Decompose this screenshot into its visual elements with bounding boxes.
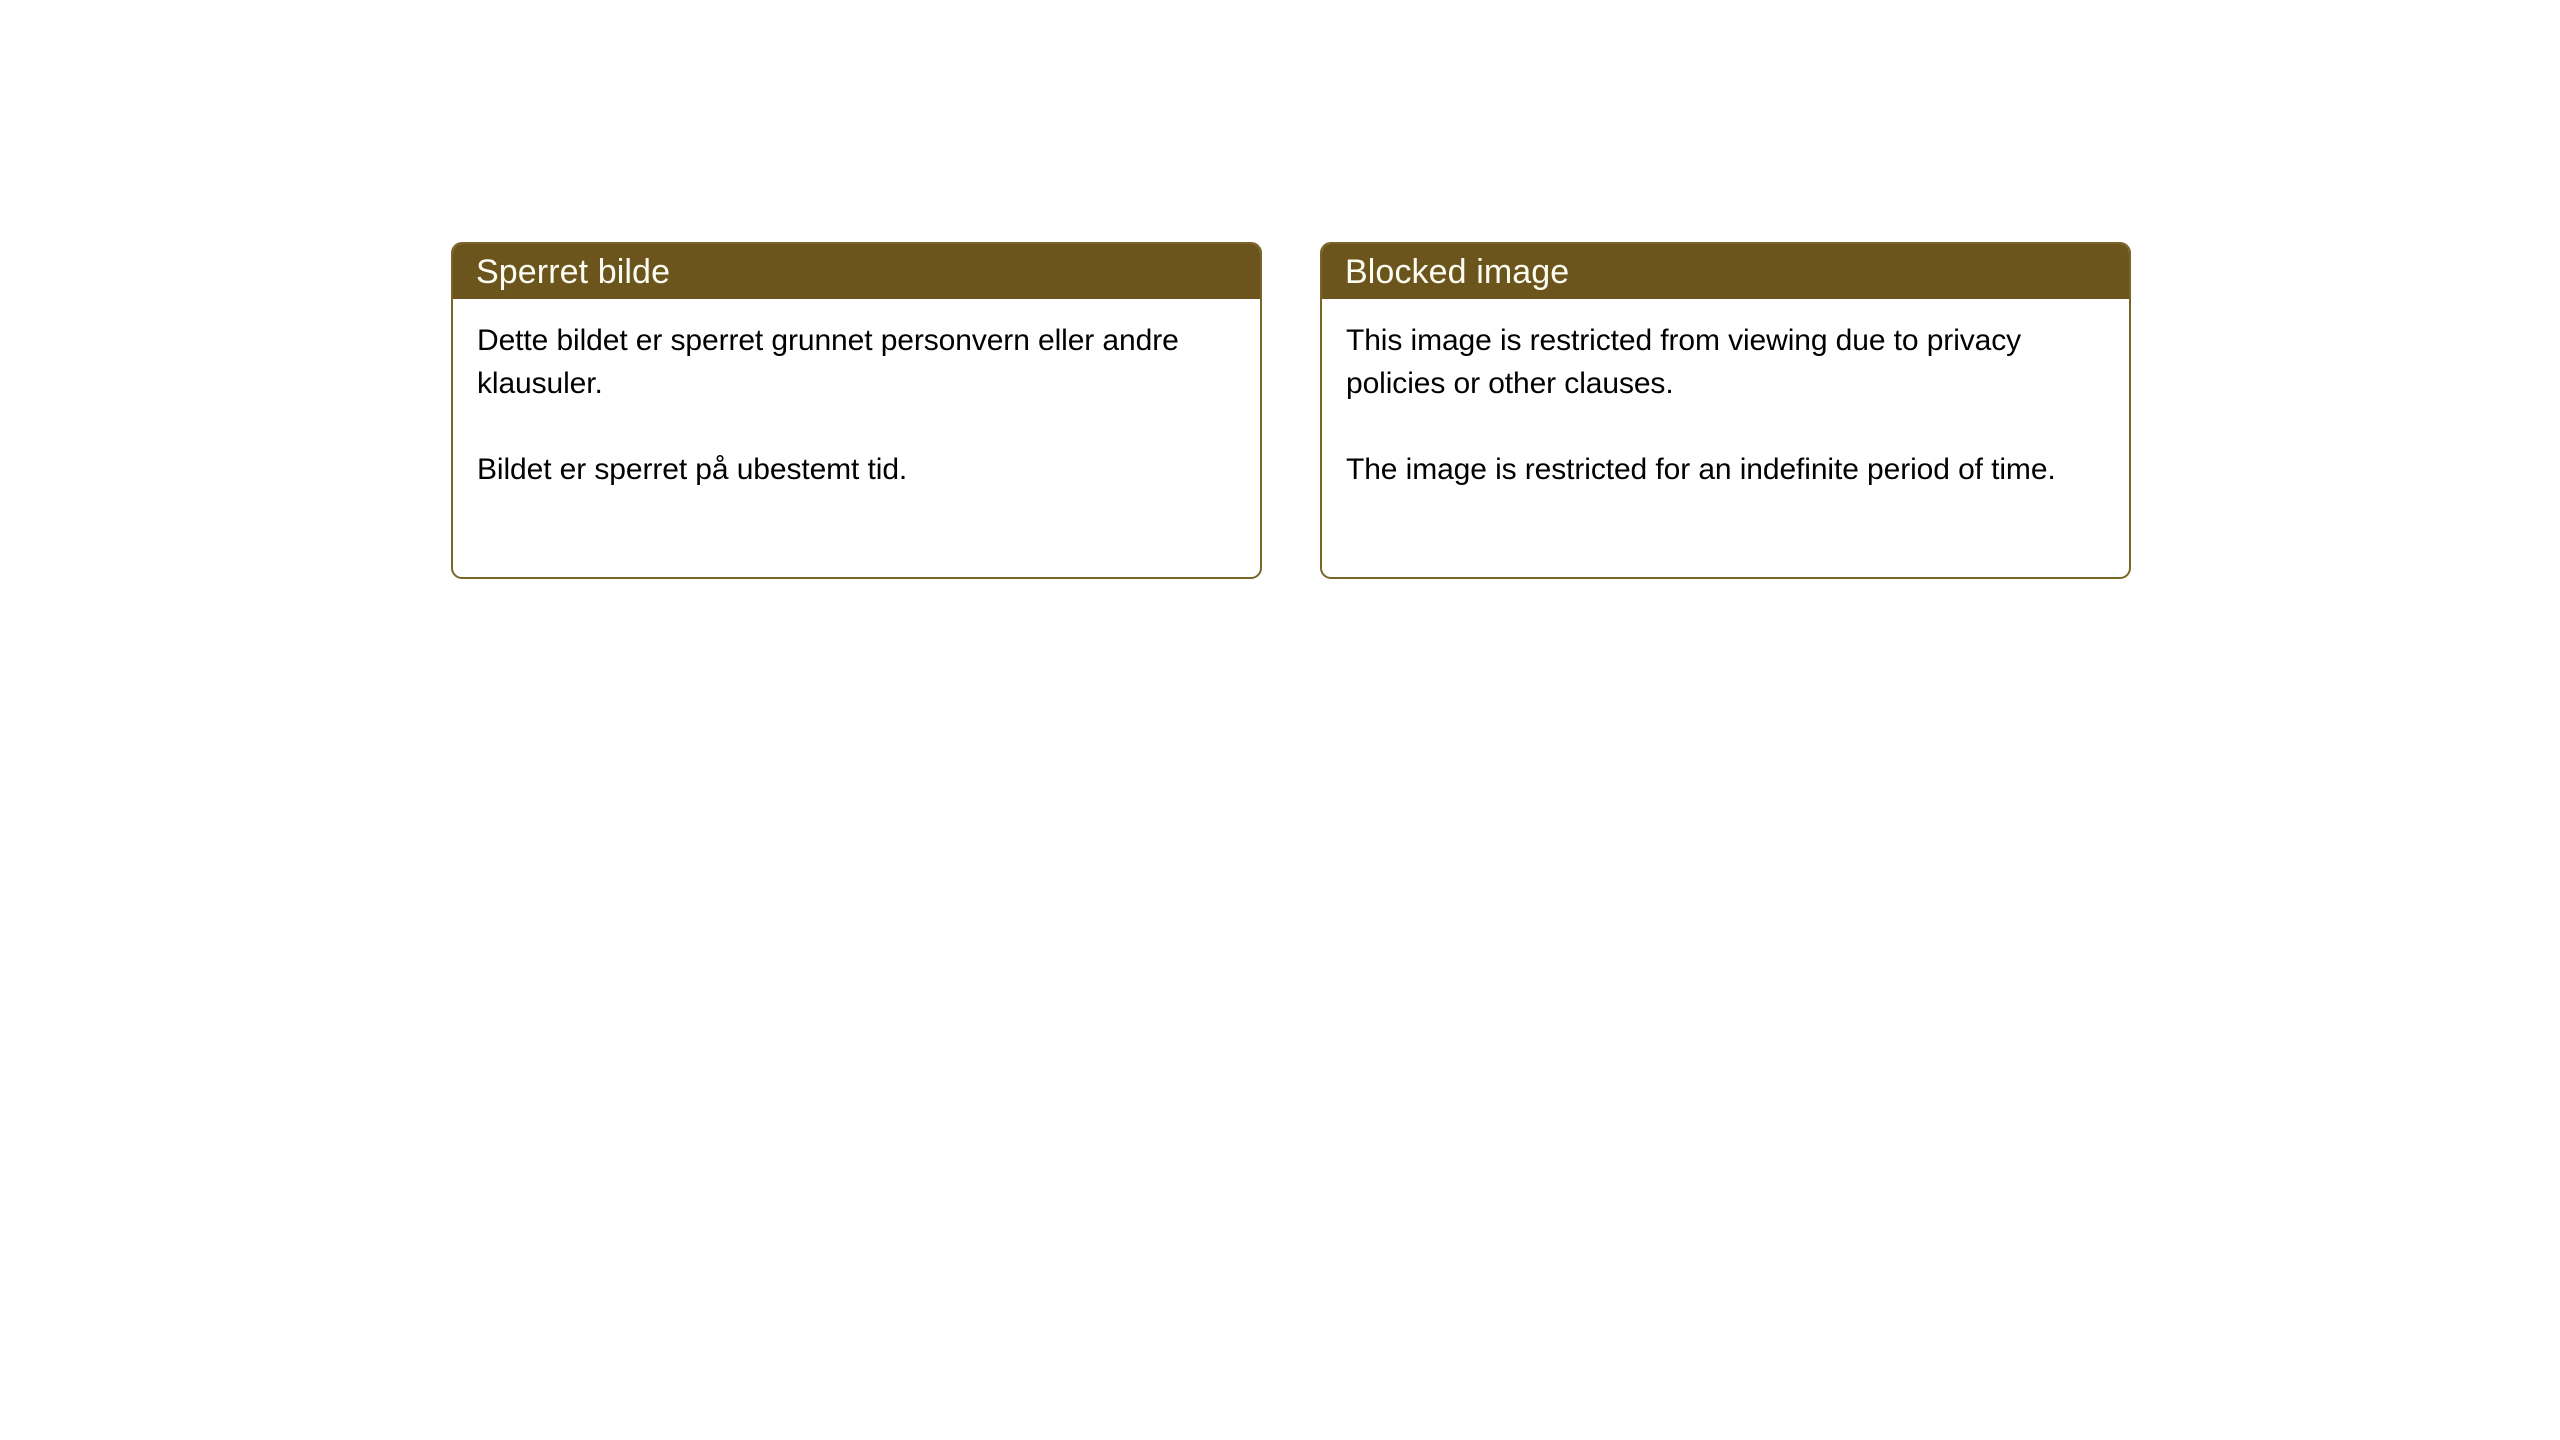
card-title-norwegian: Sperret bilde xyxy=(476,255,670,289)
card-paragraph-reason-norwegian: Dette bildet er sperret grunnet personve… xyxy=(477,319,1238,405)
card-body-english: This image is restricted from viewing du… xyxy=(1322,299,2129,491)
card-header-english: Blocked image xyxy=(1322,244,2129,299)
card-paragraph-duration-english: The image is restricted for an indefinit… xyxy=(1346,448,2107,491)
blocked-image-notice-card-english: Blocked image This image is restricted f… xyxy=(1320,242,2131,579)
paragraph-spacer xyxy=(1346,405,2107,448)
card-title-english: Blocked image xyxy=(1345,255,1569,289)
page-canvas: Sperret bilde Dette bildet er sperret gr… xyxy=(0,0,2560,1440)
card-body-norwegian: Dette bildet er sperret grunnet personve… xyxy=(453,299,1260,491)
paragraph-spacer xyxy=(477,405,1238,448)
card-paragraph-reason-english: This image is restricted from viewing du… xyxy=(1346,319,2107,405)
card-paragraph-duration-norwegian: Bildet er sperret på ubestemt tid. xyxy=(477,448,1238,491)
card-header-norwegian: Sperret bilde xyxy=(453,244,1260,299)
blocked-image-notice-card-norwegian: Sperret bilde Dette bildet er sperret gr… xyxy=(451,242,1262,579)
